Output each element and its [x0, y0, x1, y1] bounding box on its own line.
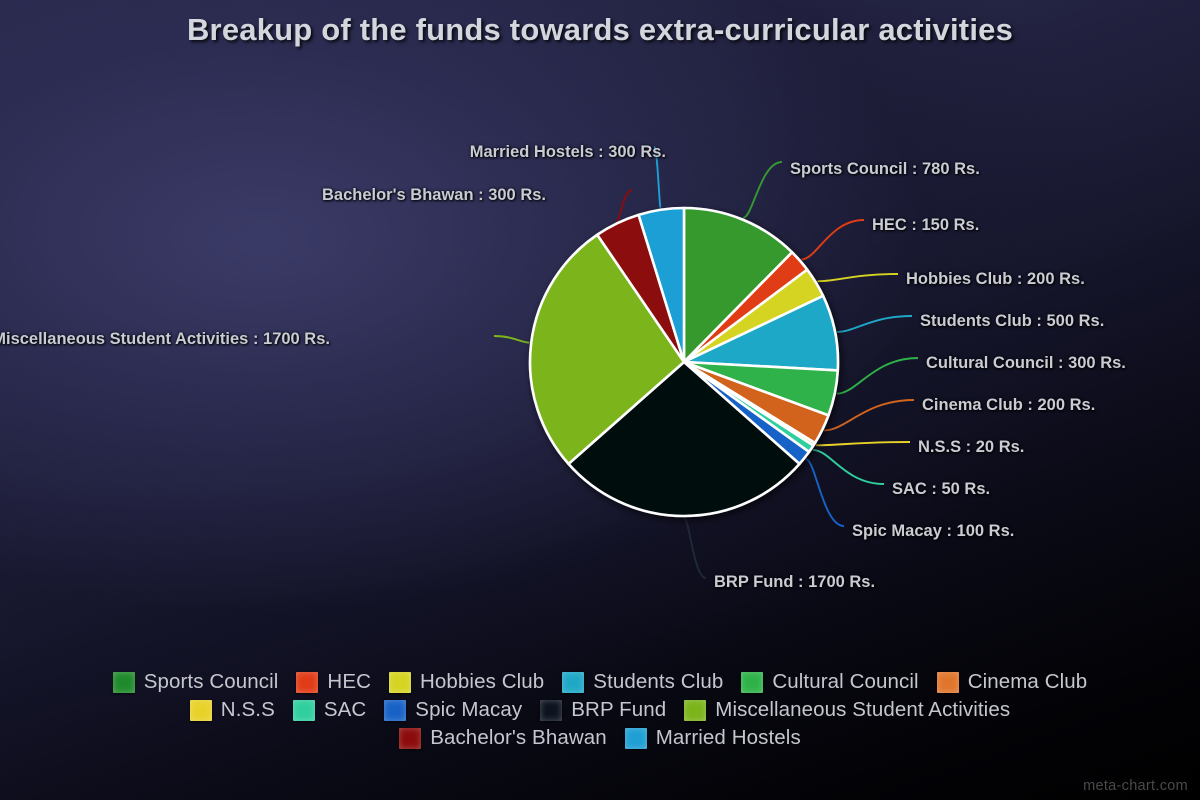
chart-legend: Sports CouncilHECHobbies ClubStudents Cl…: [0, 668, 1200, 752]
callout-students-club: Students Club : 500 Rs.: [920, 312, 1104, 331]
legend-swatch-icon: [937, 672, 959, 693]
legend-item[interactable]: Hobbies Club: [389, 668, 544, 696]
callout-sac: SAC : 50 Rs.: [892, 480, 990, 499]
callout-hec: HEC : 150 Rs.: [872, 216, 979, 235]
legend-item-label: Hobbies Club: [420, 670, 544, 694]
legend-item-label: HEC: [327, 670, 371, 694]
callout-cultural-council: Cultural Council : 300 Rs.: [926, 354, 1126, 373]
legend-item[interactable]: Miscellaneous Student Activities: [684, 696, 1010, 724]
legend-item[interactable]: BRP Fund: [540, 696, 666, 724]
leader-line: [816, 442, 910, 445]
callout-sports-council: Sports Council : 780 Rs.: [790, 160, 980, 179]
legend-item-label: Sports Council: [144, 670, 279, 694]
callout-spic-macay: Spic Macay : 100 Rs.: [852, 522, 1014, 541]
legend-item-label: BRP Fund: [571, 698, 666, 722]
legend-item-label: Cinema Club: [968, 670, 1088, 694]
legend-item-label: Married Hostels: [656, 726, 801, 750]
leader-line: [818, 274, 899, 281]
legend-item-label: Spic Macay: [415, 698, 522, 722]
legend-item-label: Miscellaneous Student Activities: [715, 698, 1010, 722]
legend-swatch-icon: [562, 672, 584, 693]
legend-swatch-icon: [293, 700, 315, 721]
legend-item[interactable]: HEC: [296, 668, 371, 696]
legend-swatch-icon: [113, 672, 135, 693]
legend-swatch-icon: [741, 672, 763, 693]
legend-swatch-icon: [190, 700, 212, 721]
legend-swatch-icon: [625, 728, 647, 749]
legend-item[interactable]: Sports Council: [113, 668, 279, 696]
legend-item[interactable]: SAC: [293, 696, 366, 724]
legend-swatch-icon: [296, 672, 318, 693]
legend-swatch-icon: [540, 700, 562, 721]
legend-item-label: N.S.S: [221, 698, 275, 722]
legend-item[interactable]: Married Hostels: [625, 724, 801, 752]
legend-item[interactable]: Spic Macay: [384, 696, 522, 724]
callout-bachelors-bhawan: Bachelor's Bhawan : 300 Rs.: [322, 186, 546, 205]
legend-swatch-icon: [389, 672, 411, 693]
legend-item-label: Students Club: [593, 670, 723, 694]
chart-canvas: Breakup of the funds towards extra-curri…: [0, 0, 1200, 800]
leader-line: [837, 316, 912, 332]
leader-line: [743, 162, 782, 218]
legend-item[interactable]: Cinema Club: [937, 668, 1088, 696]
legend-item[interactable]: Cultural Council: [741, 668, 918, 696]
callout-misc-student-activities: Miscellaneous Student Activities : 1700 …: [0, 330, 330, 349]
legend-swatch-icon: [399, 728, 421, 749]
leader-line: [494, 336, 529, 343]
leader-line: [824, 400, 914, 430]
legend-item-label: Bachelor's Bhawan: [430, 726, 607, 750]
legend-item[interactable]: N.S.S: [190, 696, 275, 724]
leader-line: [684, 518, 706, 578]
legend-item[interactable]: Students Club: [562, 668, 723, 696]
legend-item-label: SAC: [324, 698, 366, 722]
callout-brp-fund: BRP Fund : 1700 Rs.: [714, 573, 875, 592]
leader-line: [806, 459, 844, 526]
watermark: meta-chart.com: [1083, 778, 1188, 794]
legend-swatch-icon: [384, 700, 406, 721]
callout-nss: N.S.S : 20 Rs.: [918, 438, 1024, 457]
leader-line: [802, 220, 865, 259]
legend-item[interactable]: Bachelor's Bhawan: [399, 724, 607, 752]
legend-item-label: Cultural Council: [772, 670, 918, 694]
callout-hobbies-club: Hobbies Club : 200 Rs.: [906, 270, 1085, 289]
legend-swatch-icon: [684, 700, 706, 721]
callout-cinema-club: Cinema Club : 200 Rs.: [922, 396, 1095, 415]
callout-married-hostels: Married Hostels : 300 Rs.: [470, 143, 666, 162]
pie-slices: Sports Council : 780 Rs.HEC : 150 Rs.Hob…: [530, 208, 838, 516]
leader-line: [837, 358, 918, 394]
leader-line: [813, 450, 884, 484]
